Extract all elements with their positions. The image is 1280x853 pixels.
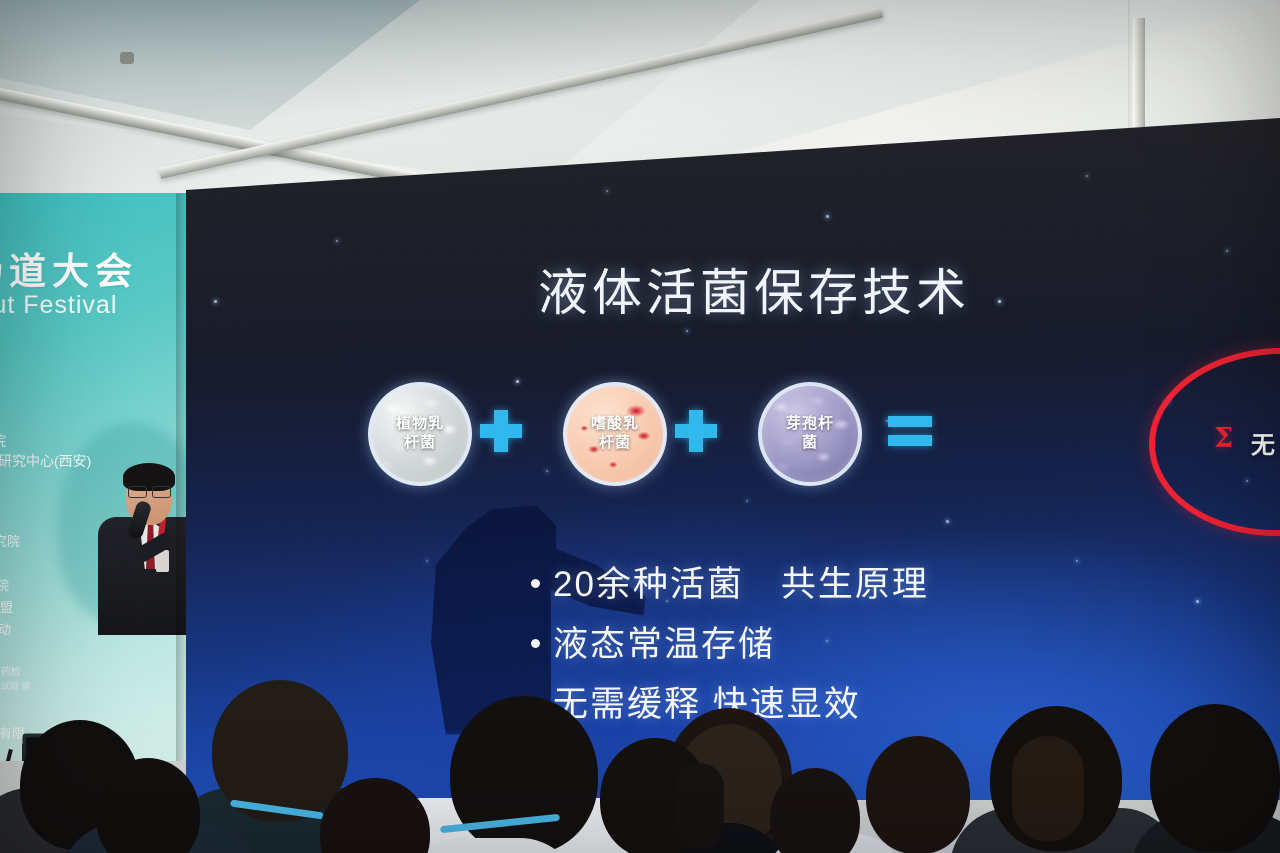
equals-icon: [888, 416, 932, 446]
banner-text-line: 研究院: [0, 575, 9, 594]
audience: [0, 608, 1280, 853]
sigma-icon: Σ: [1214, 423, 1233, 454]
beam-bracket: [120, 52, 134, 64]
slide-formula-row: 植物乳 杆菌 嗜酸乳 杆菌 芽孢杆 菌 Σ 无限的可能: [358, 370, 1258, 500]
banner-text-line: 医学研究中心(西安): [0, 451, 91, 471]
banner-text-line: 学研究院: [0, 531, 20, 550]
dish-label: 芽孢杆 菌: [786, 415, 834, 453]
result-text: 无限的可能: [1251, 425, 1280, 460]
dish-label: 嗜酸乳 杆菌: [591, 415, 639, 453]
plus-icon: [675, 410, 717, 452]
banner-title-cn: 肠道大会: [0, 241, 138, 295]
petri-dish-lactobacillus-acidophilus: 嗜酸乳 杆菌: [563, 382, 667, 486]
glasses-icon: [128, 486, 171, 496]
list-item: 20余种活菌 共生原理: [531, 556, 929, 607]
plus-icon: [480, 410, 522, 452]
banner-title-en: Gut Festival: [0, 291, 117, 320]
bullet-dot-icon: [531, 579, 540, 588]
petri-dish-lactobacillus-plantarum: 植物乳 杆菌: [368, 382, 472, 486]
banner-text-line: 医院: [0, 431, 6, 451]
dish-label: 植物乳 杆菌: [396, 415, 444, 453]
petri-dish-bacillus: 芽孢杆 菌: [758, 382, 862, 486]
photo-scene: 液体活菌保存技术 植物乳 杆菌 嗜酸乳 杆菌 芽孢杆 菌: [0, 0, 1280, 853]
slide-title: 液体活菌保存技术: [538, 253, 970, 325]
